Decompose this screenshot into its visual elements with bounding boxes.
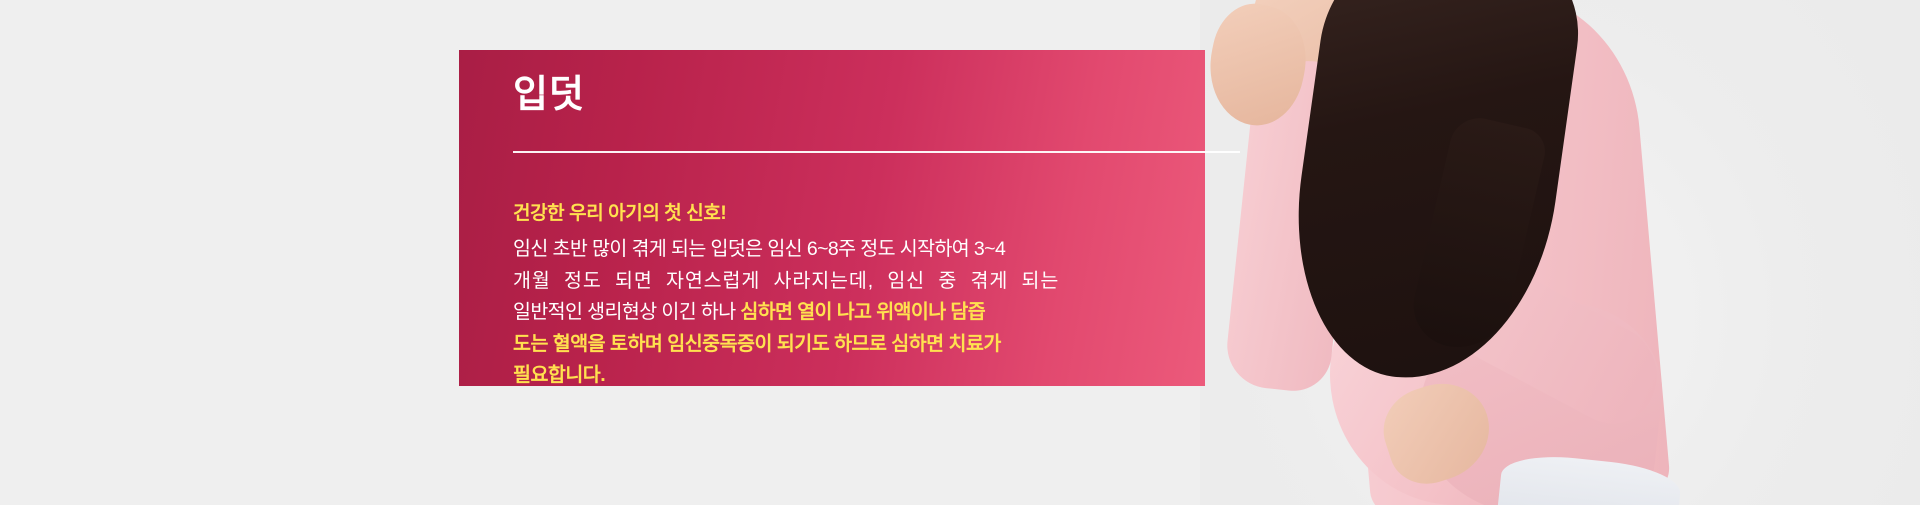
health-info-banner: 입덧 건강한 우리 아기의 첫 신호! 임신 초반 많이 겪게 되는 입덧은 임… (0, 0, 1920, 505)
paragraph-line-2: 개월 정도 되면 자연스럽게 사라지는데, 임신 중 겪게 되는 (513, 266, 1163, 298)
paragraph-segment: 임신 초반 많이 겪게 되는 입덧은 임신 6~8주 정도 시작하여 3~4 (513, 238, 1005, 260)
paragraph-line-1: 임신 초반 많이 겪게 되는 입덧은 임신 6~8주 정도 시작하여 3~4 (513, 234, 1163, 266)
paragraph-line-5: 필요합니다. (513, 360, 1163, 392)
pregnant-woman-photo (1200, 0, 1920, 505)
paragraph-segment: 일반적인 생리현상 이긴 하나 (513, 301, 740, 323)
title-underline-rule (513, 151, 1240, 153)
page-title: 입덧 (513, 72, 585, 120)
paragraph-line-4: 도는 혈액을 토하며 임신중독증이 되기도 하므로 심하면 치료가 (513, 329, 1163, 361)
paragraph-segment-highlighted: 심하면 열이 나고 위액이나 담즙 (740, 301, 985, 323)
paragraph-segment-highlighted: 필요합니다. (513, 364, 605, 386)
paragraph-segment-highlighted: 도는 혈액을 토하며 임신중독증이 되기도 하므로 심하면 치료가 (513, 333, 1001, 355)
model-figure (1200, 0, 1920, 505)
card-body: 건강한 우리 아기의 첫 신호! 임신 초반 많이 겪게 되는 입덧은 임신 6… (513, 198, 1163, 392)
info-card: 입덧 건강한 우리 아기의 첫 신호! 임신 초반 많이 겪게 되는 입덧은 임… (459, 50, 1205, 386)
paragraph-segment: 개월 정도 되면 자연스럽게 사라지는데, 임신 중 겪게 되는 (513, 270, 1059, 292)
paragraph-line-3: 일반적인 생리현상 이긴 하나 심하면 열이 나고 위액이나 담즙 (513, 297, 1163, 329)
card-subtitle: 건강한 우리 아기의 첫 신호! (513, 198, 1163, 225)
